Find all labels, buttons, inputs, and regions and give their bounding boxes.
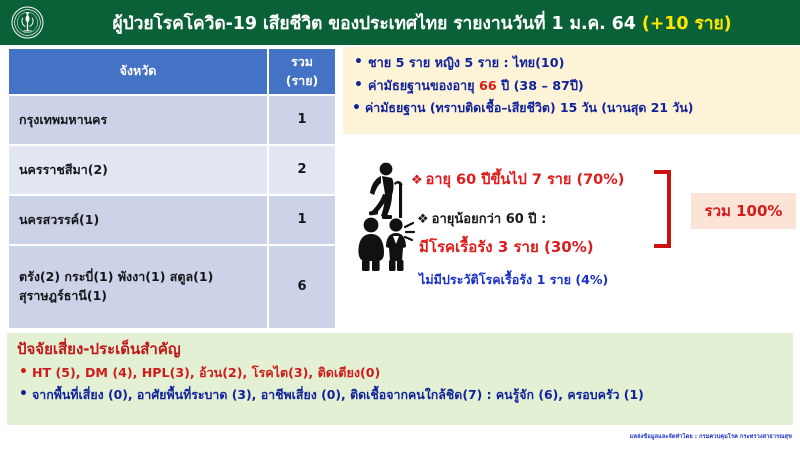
total-percent-badge: รวม 100% [691, 193, 796, 229]
right-square-bracket-icon [654, 170, 671, 248]
column-header-total-line1: รวม [269, 53, 335, 71]
list-item: ชาย 5 ราย หญิง 5 ราย : ไทย(10) [351, 53, 796, 72]
summary-list: ชาย 5 ราย หญิง 5 ราย : ไทย(10) ค่ามัธยฐา… [351, 53, 796, 117]
age-younger-label-line: ❖อายุน้อยกว่า 60 ปี : [417, 208, 546, 229]
cell-total: 6 [269, 246, 335, 328]
age-elderly-text: อายุ 60 ปีขึ้นไป 7 ราย (70%) [426, 172, 625, 188]
page-title-main: ผู้ป่วยโรคโควิด-19 เสียชีวิต ของประเทศไท… [112, 14, 641, 34]
age-breakdown-panel: ❖อายุ 60 ปีขึ้นไป 7 ราย (70%) ❖อายุน้อยก… [343, 140, 800, 330]
cell-province-line1: ตรัง(2) กระบี่(1) พังงา(1) สตูล(1) [19, 268, 267, 287]
source-credit: แหล่งข้อมูลและจัดทำโดย : กรมควบคุมโรค กร… [630, 433, 792, 441]
column-header-province: จังหวัด [9, 49, 267, 94]
page-title: ผู้ป่วยโรคโควิด-19 เสียชีวิต ของประเทศไท… [54, 9, 800, 37]
logo-container [0, 0, 54, 45]
table-header-row: จังหวัด รวม (ราย) [9, 49, 335, 94]
list-item: จากพื้นที่เสี่ยง (0), อาศัยพื้นที่ระบาด … [17, 386, 785, 405]
risk-factors-box: ปัจจัยเสี่ยง-ประเด็นสำคัญ HT (5), DM (4)… [7, 333, 793, 425]
age-elderly-line: ❖อายุ 60 ปีขึ้นไป 7 ราย (70%) [411, 168, 624, 191]
cell-province: กรุงเทพมหานคร [9, 96, 267, 144]
risk-factors-title: ปัจจัยเสี่ยง-ประเด็นสำคัญ [17, 339, 785, 361]
cell-province: ตรัง(2) กระบี่(1) พังงา(1) สตูล(1) สุราษ… [9, 246, 267, 328]
two-persons-obese-and-coughing-icon [355, 217, 417, 271]
elderly-person-with-cane-icon [361, 162, 413, 220]
province-table: จังหวัด รวม (ราย) กรุงเทพมหานคร 1 นครราช… [7, 47, 337, 330]
risk-factors-list: HT (5), DM (4), HPL(3), อ้วน(2), โรคไต(3… [17, 364, 785, 405]
table-row[interactable]: ตรัง(2) กระบี่(1) พังงา(1) สตูล(1) สุราษ… [9, 246, 335, 328]
chronic-disease-line: มีโรคเรื้อรัง 3 ราย (30%) [419, 235, 594, 259]
table-row[interactable]: นครสวรรค์(1) 1 [9, 196, 335, 244]
summary-text: ค่ามัธยฐาน (ทราบติดเชื้อ–เสียชีวิต) 15 ว… [365, 100, 693, 115]
ministry-of-public-health-emblem-icon [11, 6, 44, 39]
cell-province: นครสวรรค์(1) [9, 196, 267, 244]
summary-info-box: ชาย 5 ราย หญิง 5 ราย : ไทย(10) ค่ามัธยฐา… [343, 47, 800, 134]
no-chronic-history-line: ไม่มีประวัติโรคเรื้อรัง 1 ราย (4%) [419, 270, 608, 290]
summary-text: ชาย 5 ราย หญิง 5 ราย : ไทย(10) [368, 55, 564, 70]
province-table-container: จังหวัด รวม (ราย) กรุงเทพมหานคร 1 นครราช… [7, 47, 335, 328]
age-younger-text: อายุน้อยกว่า 60 ปี : [432, 212, 547, 227]
cell-total: 2 [269, 146, 335, 194]
diamond-bullet-icon: ❖ [411, 173, 423, 188]
list-item: ค่ามัธยฐานของอายุ 66 ปี (38 – 87ปี) [351, 76, 796, 95]
column-header-total: รวม (ราย) [269, 49, 335, 94]
summary-text: ค่ามัธยฐานของอายุ [368, 78, 479, 93]
cell-total: 1 [269, 196, 335, 244]
infographic-page: ผู้ป่วยโรคโควิด-19 เสียชีวิต ของประเทศไท… [0, 0, 800, 450]
page-title-highlight: (+10 ราย) [642, 14, 732, 34]
column-header-total-line2: (ราย) [269, 72, 335, 90]
table-row[interactable]: นครราชสีมา(2) 2 [9, 146, 335, 194]
list-item: ค่ามัธยฐาน (ทราบติดเชื้อ–เสียชีวิต) 15 ว… [351, 99, 796, 118]
table-row[interactable]: กรุงเทพมหานคร 1 [9, 96, 335, 144]
cell-total: 1 [269, 96, 335, 144]
header-bar: ผู้ป่วยโรคโควิด-19 เสียชีวิต ของประเทศไท… [0, 0, 800, 45]
list-item: HT (5), DM (4), HPL(3), อ้วน(2), โรคไต(3… [17, 364, 785, 383]
cell-province-line2: สุราษฎร์ธานี(1) [19, 287, 267, 306]
cell-province: นครราชสีมา(2) [9, 146, 267, 194]
diamond-bullet-icon: ❖ [417, 212, 429, 227]
summary-text-post: ปี (38 – 87ปี) [497, 78, 584, 93]
median-age-value: 66 [479, 78, 497, 93]
